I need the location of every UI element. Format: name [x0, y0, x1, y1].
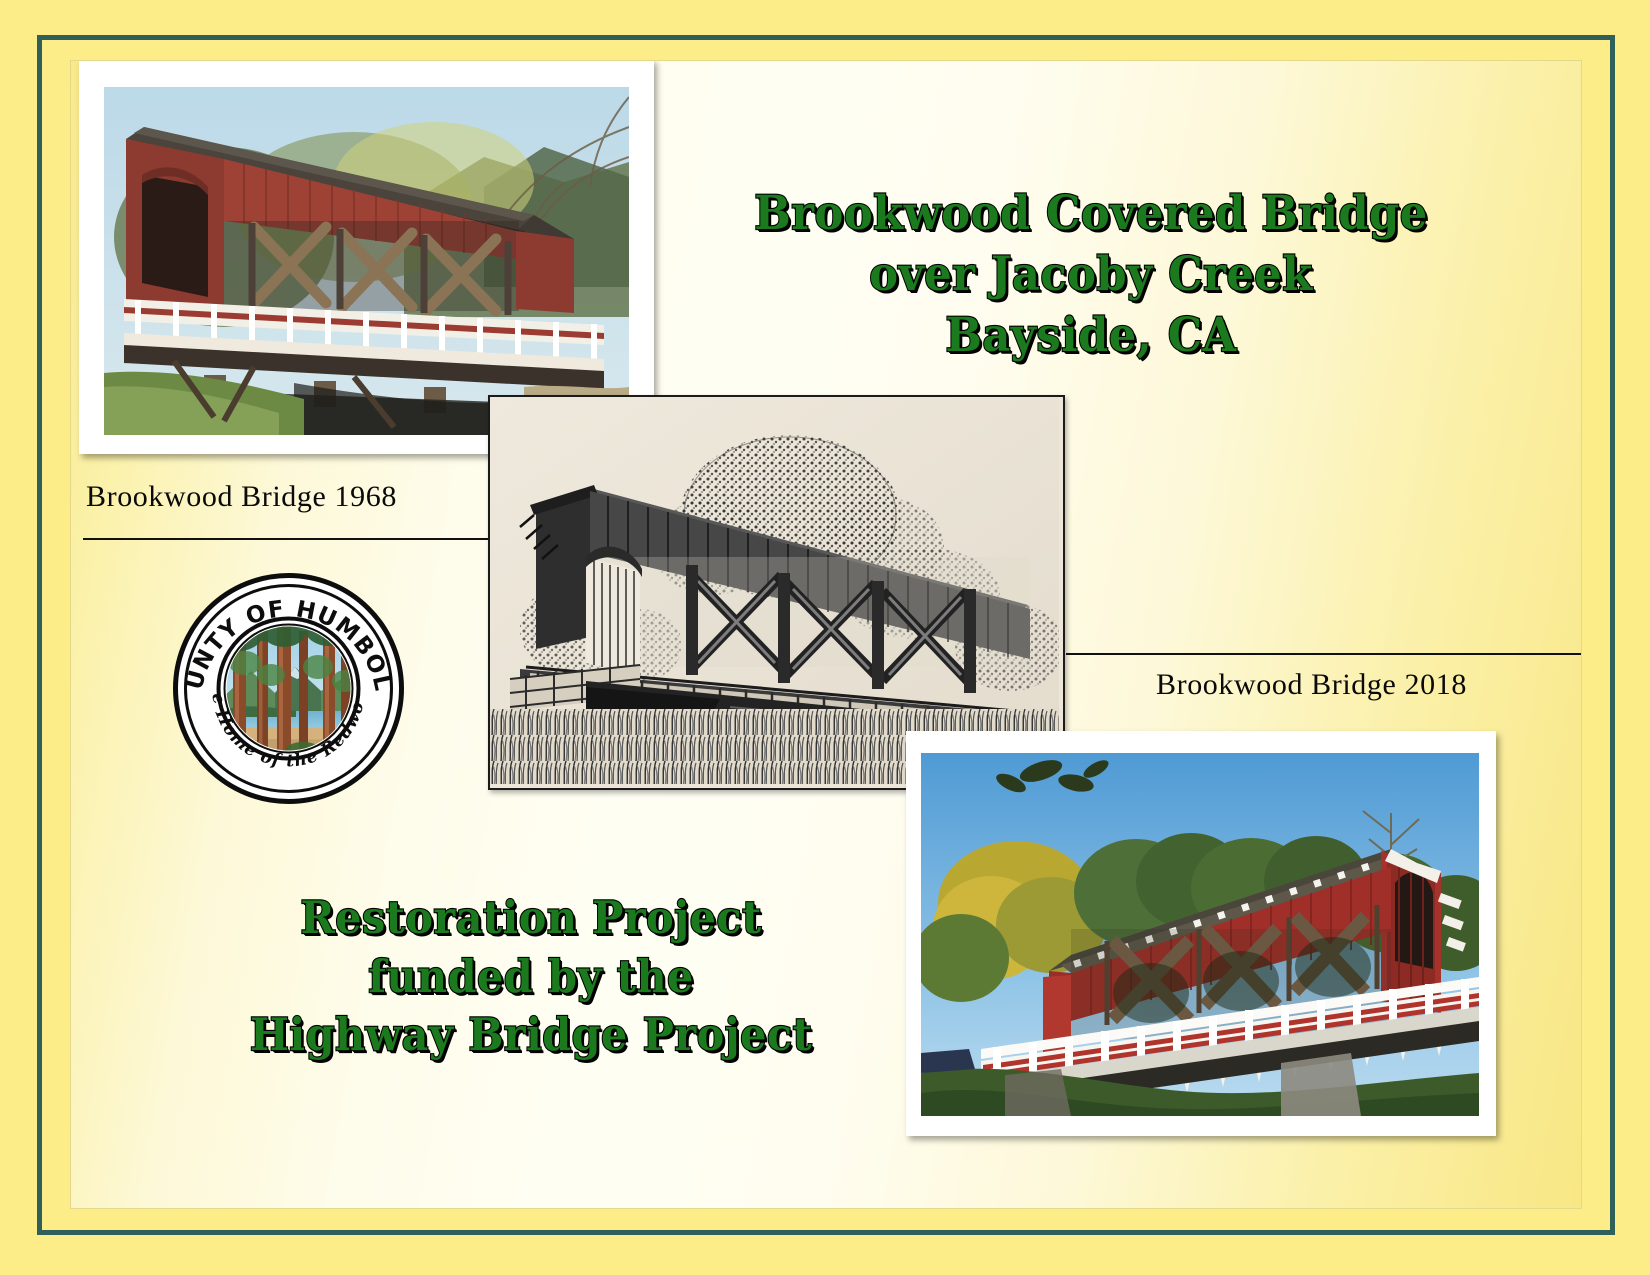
poster-page: Brookwood Bridge 1968	[0, 0, 1650, 1275]
caption-brookwood-bridge-2018: Brookwood Bridge 2018	[1156, 668, 1467, 702]
divider-rule-right	[1066, 653, 1582, 655]
caption-brookwood-bridge-1968: Brookwood Bridge 1968	[86, 480, 397, 514]
divider-rule-left	[83, 538, 538, 540]
poster-content-area: Brookwood Bridge 1968	[70, 60, 1582, 1209]
county-of-humboldt-seal: COUNTY OF HUMBOLDT The Home of the Redwo…	[171, 571, 406, 806]
photo-1968-image	[104, 87, 629, 435]
brookwood-bridge-2018-photo	[906, 731, 1496, 1136]
photo-2018-image	[921, 753, 1479, 1116]
page-subtitle: Restoration Project funded by the Highwa…	[200, 889, 862, 1065]
page-title: Brookwood Covered Bridge over Jacoby Cre…	[741, 183, 1440, 366]
